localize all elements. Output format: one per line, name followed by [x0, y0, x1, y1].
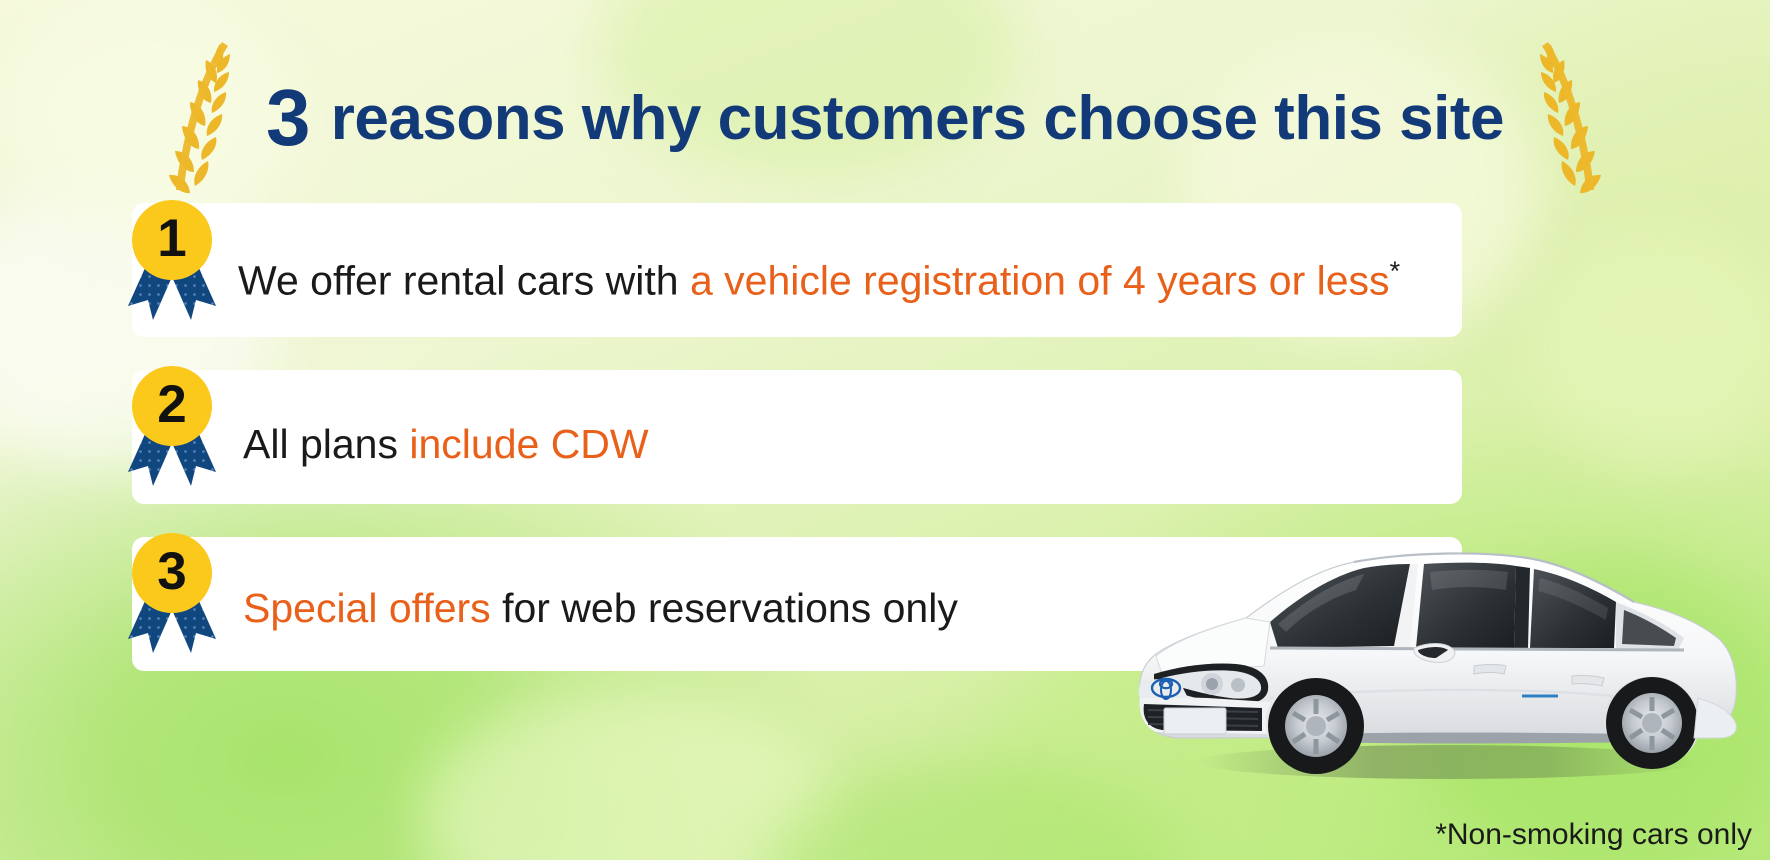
- medal-badge-1: 1: [118, 200, 226, 340]
- footnote-marker: *: [1390, 256, 1401, 286]
- reason-text-plain: We offer rental cars with: [238, 258, 690, 304]
- title-number: 3: [266, 73, 310, 162]
- reason-text-plain: for web reservations only: [491, 585, 958, 631]
- reason-text-2: All plans include CDW: [243, 424, 649, 465]
- medal-number: 1: [132, 200, 212, 280]
- laurel-branch-icon: [1526, 38, 1636, 198]
- reason-text-3: Special offers for web reservations only: [243, 588, 958, 629]
- medal-badge-3: 3: [118, 533, 226, 673]
- footnote-text: *Non-smoking cars only: [1435, 818, 1752, 852]
- reason-text-highlight: Special offers: [243, 585, 491, 631]
- reason-text-1: We offer rental cars with a vehicle regi…: [238, 258, 1400, 302]
- medal-badge-2: 2: [118, 366, 226, 506]
- promo-banner: 3 reasons why customers choose this site: [0, 0, 1770, 860]
- banner-header: 3 reasons why customers choose this site: [0, 38, 1770, 198]
- page-title: 3 reasons why customers choose this site: [266, 78, 1504, 158]
- white-compact-car-photo: [1118, 498, 1758, 788]
- reason-text-plain: All plans: [243, 421, 409, 467]
- laurel-branch-icon: [134, 38, 244, 198]
- reason-text-highlight: include CDW: [409, 421, 648, 467]
- title-text: reasons why customers choose this site: [314, 84, 1504, 153]
- medal-number: 3: [132, 533, 212, 613]
- medal-number: 2: [132, 366, 212, 446]
- reason-text-highlight: a vehicle registration of 4 years or les…: [690, 258, 1390, 304]
